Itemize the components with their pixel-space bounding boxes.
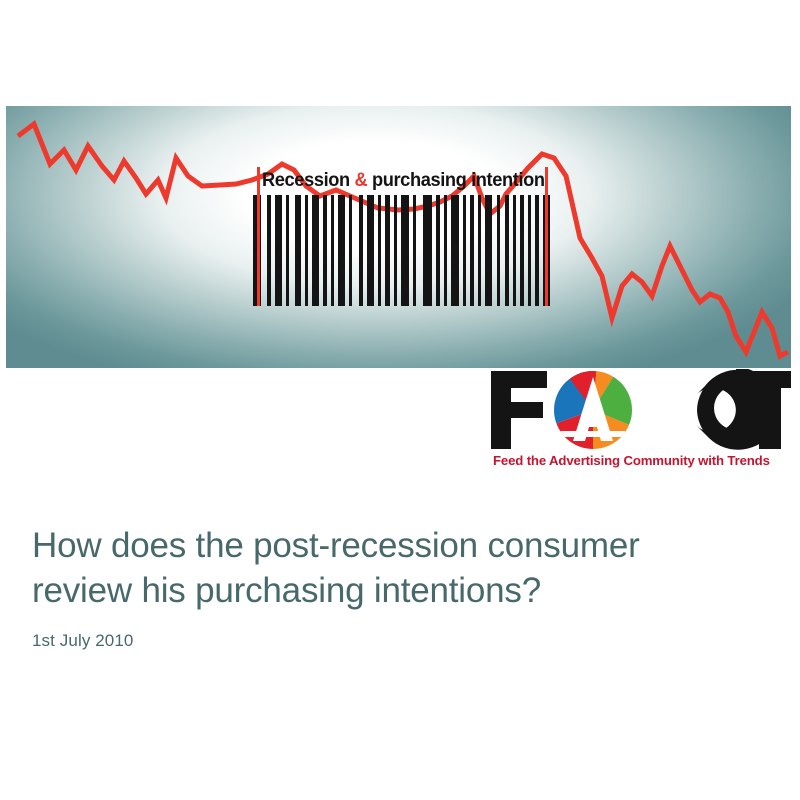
fact-logo-mark xyxy=(489,369,791,451)
barcode-guard-left-icon xyxy=(257,167,260,306)
logo-letter-f xyxy=(491,371,547,449)
barcode-caption-part-2: purchasing intention xyxy=(367,170,544,191)
title-block: How does the post-recession consumer rev… xyxy=(32,523,762,651)
page-title-line-2: review his purchasing intentions? xyxy=(32,571,541,610)
fact-logo-tagline: Feed the Advertising Community with Tren… xyxy=(493,453,791,468)
barcode-bars xyxy=(249,195,558,306)
slide-date: 1st July 2010 xyxy=(32,631,762,651)
page-title: How does the post-recession consumer rev… xyxy=(32,523,762,613)
logo-letter-a xyxy=(541,369,649,451)
barcode-caption-ampersand: & xyxy=(354,170,367,191)
recession-banner: Recession & purchasing intention xyxy=(6,106,791,368)
page-title-line-1: How does the post-recession consumer xyxy=(32,526,640,565)
barcode: Recession & purchasing intention xyxy=(249,167,558,306)
barcode-caption-part-1: Recession xyxy=(262,170,354,191)
barcode-guard-right-icon xyxy=(545,167,548,306)
fact-logo: Feed the Advertising Community with Tren… xyxy=(489,369,791,477)
barcode-caption: Recession & purchasing intention xyxy=(262,167,534,195)
slide: Recession & purchasing intention xyxy=(0,0,800,800)
